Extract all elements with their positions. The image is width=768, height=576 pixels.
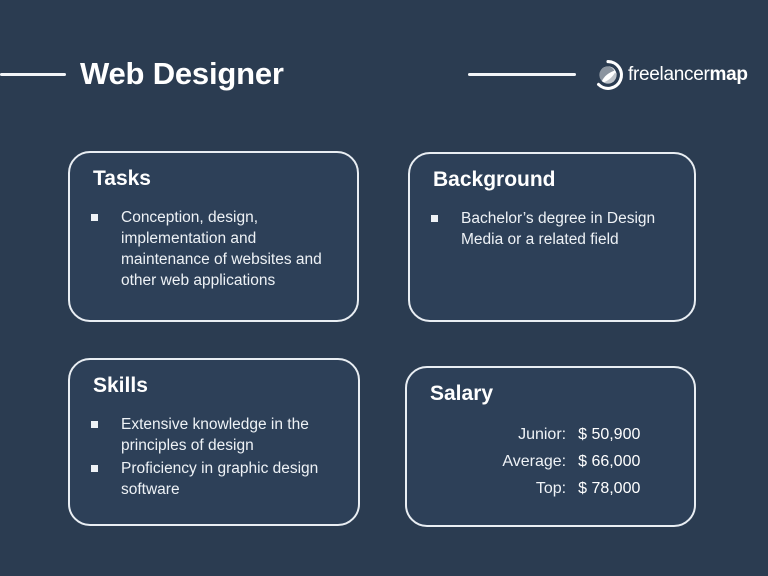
list-item-text: Conception, design, implementation and m… — [121, 209, 322, 289]
salary-value: $ 66,000 — [578, 451, 680, 473]
card-salary: Salary Junior: $ 50,900 Average: $ 66,00… — [405, 366, 696, 527]
card-title-background: Background — [433, 168, 556, 192]
header-rule-left — [0, 73, 66, 76]
card-tasks: Tasks Conception, design, implementation… — [68, 151, 359, 322]
card-title-tasks: Tasks — [93, 167, 151, 191]
square-bullet-icon — [91, 421, 98, 428]
bullet-list-skills: Extensive knowledge in the principles of… — [88, 414, 344, 500]
slide-canvas: Web Designer freelancermap Tasks Concept… — [0, 0, 768, 576]
list-item-text: Bachelor’s degree in Design Media or a r… — [461, 210, 655, 248]
square-bullet-icon — [91, 465, 98, 472]
card-background: Background Bachelor’s degree in Design M… — [408, 152, 696, 322]
header: Web Designer freelancermap — [0, 44, 768, 104]
salary-label: Junior: — [425, 424, 578, 446]
salary-row-average: Average: $ 66,000 — [425, 451, 680, 473]
page-title: Web Designer — [80, 44, 284, 104]
list-item-text: Proficiency in graphic design software — [121, 460, 318, 498]
square-bullet-icon — [91, 214, 98, 221]
card-body-background: Bachelor’s degree in Design Media or a r… — [428, 208, 680, 252]
card-body-tasks: Conception, design, implementation and m… — [88, 207, 343, 293]
salary-row-top: Top: $ 78,000 — [425, 478, 680, 500]
logo-text-bold: map — [710, 64, 748, 86]
bullet-list-background: Bachelor’s degree in Design Media or a r… — [428, 208, 680, 250]
freelancermap-swirl-icon — [592, 59, 624, 91]
square-bullet-icon — [431, 215, 438, 222]
salary-table: Junior: $ 50,900 Average: $ 66,000 Top: … — [425, 424, 680, 505]
card-title-salary: Salary — [430, 382, 493, 406]
bullet-list-tasks: Conception, design, implementation and m… — [88, 207, 343, 291]
salary-label: Average: — [425, 451, 578, 473]
header-rule-right — [468, 73, 576, 76]
freelancermap-logo[interactable]: freelancermap — [592, 58, 748, 92]
list-item: Proficiency in graphic design software — [88, 458, 344, 500]
list-item: Conception, design, implementation and m… — [88, 207, 343, 291]
card-body-skills: Extensive knowledge in the principles of… — [88, 414, 344, 502]
list-item: Bachelor’s degree in Design Media or a r… — [428, 208, 680, 250]
salary-value: $ 50,900 — [578, 424, 680, 446]
card-title-skills: Skills — [93, 374, 148, 398]
list-item-text: Extensive knowledge in the principles of… — [121, 416, 309, 454]
list-item: Extensive knowledge in the principles of… — [88, 414, 344, 456]
card-skills: Skills Extensive knowledge in the princi… — [68, 358, 360, 526]
salary-label: Top: — [425, 478, 578, 500]
salary-value: $ 78,000 — [578, 478, 680, 500]
logo-wordmark: freelancermap — [628, 64, 748, 86]
salary-row-junior: Junior: $ 50,900 — [425, 424, 680, 446]
logo-text-light: freelancer — [628, 64, 710, 86]
